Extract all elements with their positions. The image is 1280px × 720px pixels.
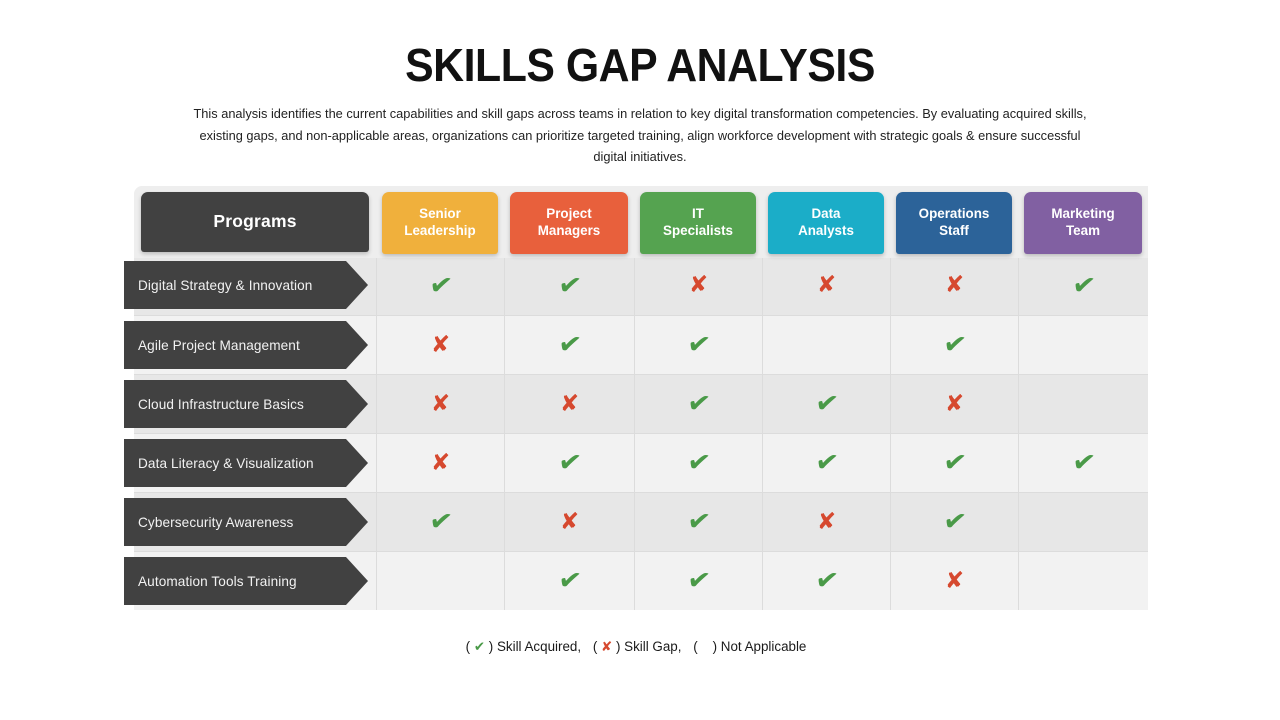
check-icon: ✔ xyxy=(1070,270,1097,301)
row-header-cell: Automation Tools Training xyxy=(134,551,376,610)
matrix-cell[interactable]: ✔ xyxy=(504,551,634,610)
column-header-label: ProjectManagers xyxy=(538,206,601,240)
check-icon: ✔ xyxy=(556,330,583,361)
row-label-text: Agile Project Management xyxy=(138,338,300,353)
legend-label-acquired: ) Skill Acquired, xyxy=(489,639,581,654)
legend-item-not-applicable: ( ) Not Applicable xyxy=(693,639,806,654)
legend-open-paren-acquired: ( xyxy=(466,639,470,654)
column-header-programs[interactable]: Programs xyxy=(141,192,369,252)
table-row: Digital Strategy & Innovation✔✔✘✘✘✔ xyxy=(134,256,1148,315)
column-header-label: ITSpecialists xyxy=(663,206,733,240)
check-icon: ✔ xyxy=(813,389,840,420)
row-header-cell: Digital Strategy & Innovation xyxy=(134,256,376,315)
table-row: Cybersecurity Awareness✔✘✔✘✔ xyxy=(134,492,1148,551)
matrix-cell[interactable]: ✔ xyxy=(762,374,890,433)
cross-icon: ✘ xyxy=(431,334,450,357)
matrix-column-header-slot: OperationsStaff xyxy=(890,186,1018,258)
matrix-cell[interactable] xyxy=(1018,315,1148,374)
row-label-agile-project-management[interactable]: Agile Project Management xyxy=(124,321,368,369)
matrix-column-header-slot: ITSpecialists xyxy=(634,186,762,258)
matrix-column-header-slot: SeniorLeadership xyxy=(376,186,504,258)
matrix-cell[interactable]: ✔ xyxy=(634,551,762,610)
column-header-it-specialists[interactable]: ITSpecialists xyxy=(640,192,756,254)
matrix-column-header-slot: DataAnalysts xyxy=(762,186,890,258)
matrix-cell[interactable] xyxy=(1018,551,1148,610)
cross-icon: ✘ xyxy=(560,393,579,416)
column-header-data-analysts[interactable]: DataAnalysts xyxy=(768,192,884,254)
table-row: Data Literacy & Visualization✘✔✔✔✔✔ xyxy=(134,433,1148,492)
matrix-cell[interactable]: ✔ xyxy=(890,492,1018,551)
legend-item-skill-acquired: ( ✔ ) Skill Acquired, xyxy=(466,639,585,654)
matrix-cell[interactable]: ✔ xyxy=(634,433,762,492)
row-label-text: Automation Tools Training xyxy=(138,574,297,589)
matrix-cell[interactable]: ✔ xyxy=(762,551,890,610)
matrix-cell[interactable] xyxy=(1018,492,1148,551)
matrix-cell[interactable]: ✔ xyxy=(634,315,762,374)
column-header-project-managers[interactable]: ProjectManagers xyxy=(510,192,628,254)
check-icon: ✔ xyxy=(556,448,583,479)
cross-icon: ✘ xyxy=(945,393,964,416)
cross-icon: ✘ xyxy=(945,570,964,593)
matrix-cell[interactable]: ✘ xyxy=(634,256,762,315)
check-icon: ✔ xyxy=(427,270,454,301)
row-label-digital-strategy-innovation[interactable]: Digital Strategy & Innovation xyxy=(124,261,368,309)
matrix-cell[interactable]: ✔ xyxy=(1018,433,1148,492)
cross-icon: ✘ xyxy=(817,274,836,297)
check-icon: ✔ xyxy=(685,566,712,597)
matrix-header-row: ProgramsSeniorLeadershipProjectManagersI… xyxy=(134,186,1148,258)
row-label-data-literacy-visualization[interactable]: Data Literacy & Visualization xyxy=(124,439,368,487)
check-icon: ✔ xyxy=(685,330,712,361)
matrix-cell[interactable]: ✔ xyxy=(890,315,1018,374)
column-header-label: Programs xyxy=(213,211,296,233)
cross-icon: ✘ xyxy=(817,511,836,534)
page-subtitle: This analysis identifies the current cap… xyxy=(184,103,1096,167)
matrix-cell[interactable] xyxy=(376,551,504,610)
column-header-label: MarketingTeam xyxy=(1051,206,1114,240)
column-header-label: OperationsStaff xyxy=(919,206,990,240)
matrix-cell[interactable]: ✘ xyxy=(890,551,1018,610)
check-icon: ✔ xyxy=(813,566,840,597)
row-label-text: Data Literacy & Visualization xyxy=(138,456,314,471)
matrix-cell[interactable] xyxy=(762,315,890,374)
column-header-marketing-team[interactable]: MarketingTeam xyxy=(1024,192,1142,254)
row-header-cell: Agile Project Management xyxy=(134,315,376,374)
matrix-cell[interactable]: ✔ xyxy=(376,492,504,551)
matrix-cell[interactable]: ✘ xyxy=(504,374,634,433)
check-icon: ✔ xyxy=(685,389,712,420)
matrix-cell[interactable]: ✘ xyxy=(762,492,890,551)
matrix-cell[interactable]: ✘ xyxy=(376,374,504,433)
matrix-cell[interactable] xyxy=(1018,374,1148,433)
row-header-cell: Cloud Infrastructure Basics xyxy=(134,374,376,433)
check-icon: ✔ xyxy=(685,448,712,479)
legend-open-paren-gap: ( xyxy=(593,639,597,654)
table-row: Cloud Infrastructure Basics✘✘✔✔✘ xyxy=(134,374,1148,433)
column-header-label: DataAnalysts xyxy=(798,206,854,240)
check-icon: ✔ xyxy=(941,448,968,479)
cross-icon: ✘ xyxy=(560,511,579,534)
legend-label-gap: ) Skill Gap, xyxy=(616,639,681,654)
cross-icon: ✘ xyxy=(431,393,450,416)
check-icon: ✔ xyxy=(1070,448,1097,479)
legend-open-paren-na: ( xyxy=(693,639,697,654)
table-row: Agile Project Management✘✔✔✔ xyxy=(134,315,1148,374)
matrix-cell[interactable]: ✔ xyxy=(376,256,504,315)
matrix-cell[interactable]: ✘ xyxy=(890,374,1018,433)
matrix-corner-header: Programs xyxy=(134,186,376,258)
matrix-cell[interactable]: ✘ xyxy=(376,433,504,492)
check-icon: ✔ xyxy=(941,507,968,538)
legend: ( ✔ ) Skill Acquired, ( ✘ ) Skill Gap, (… xyxy=(0,639,1280,655)
matrix-cell[interactable]: ✔ xyxy=(762,433,890,492)
skills-gap-matrix: ProgramsSeniorLeadershipProjectManagersI… xyxy=(134,186,1148,610)
row-label-text: Cloud Infrastructure Basics xyxy=(138,397,304,412)
row-label-text: Digital Strategy & Innovation xyxy=(138,278,312,293)
table-row: Automation Tools Training✔✔✔✘ xyxy=(134,551,1148,610)
matrix-column-header-slot: MarketingTeam xyxy=(1018,186,1148,258)
matrix-body: Digital Strategy & Innovation✔✔✘✘✘✔Agile… xyxy=(134,256,1148,610)
row-label-cybersecurity-awareness[interactable]: Cybersecurity Awareness xyxy=(124,498,368,546)
row-header-cell: Cybersecurity Awareness xyxy=(134,492,376,551)
column-header-operations-staff[interactable]: OperationsStaff xyxy=(896,192,1012,254)
check-icon: ✔ xyxy=(941,330,968,361)
legend-blank-icon xyxy=(701,639,708,654)
legend-item-skill-gap: ( ✘ ) Skill Gap, xyxy=(593,639,685,654)
check-icon: ✔ xyxy=(556,270,583,301)
check-icon: ✔ xyxy=(474,640,485,655)
matrix-cell[interactable]: ✘ xyxy=(762,256,890,315)
matrix-cell[interactable]: ✔ xyxy=(504,315,634,374)
column-header-senior-leadership[interactable]: SeniorLeadership xyxy=(382,192,498,254)
cross-icon: ✘ xyxy=(601,640,612,655)
check-icon: ✔ xyxy=(556,566,583,597)
matrix-cell[interactable]: ✔ xyxy=(504,433,634,492)
row-label-automation-tools-training[interactable]: Automation Tools Training xyxy=(124,557,368,605)
matrix-cell[interactable]: ✔ xyxy=(634,374,762,433)
matrix-cell[interactable]: ✔ xyxy=(504,256,634,315)
check-icon: ✔ xyxy=(685,507,712,538)
cross-icon: ✘ xyxy=(431,452,450,475)
matrix-cell[interactable]: ✘ xyxy=(890,256,1018,315)
row-label-cloud-infrastructure-basics[interactable]: Cloud Infrastructure Basics xyxy=(124,380,368,428)
row-label-text: Cybersecurity Awareness xyxy=(138,515,293,530)
matrix-cell[interactable]: ✔ xyxy=(634,492,762,551)
cross-icon: ✘ xyxy=(689,274,708,297)
row-header-cell: Data Literacy & Visualization xyxy=(134,433,376,492)
matrix-cell[interactable]: ✔ xyxy=(1018,256,1148,315)
matrix-column-header-slot: ProjectManagers xyxy=(504,186,634,258)
cross-icon: ✘ xyxy=(945,274,964,297)
legend-label-na: ) Not Applicable xyxy=(713,639,807,654)
matrix-cell[interactable]: ✘ xyxy=(376,315,504,374)
page-title: SKILLS GAP ANALYSIS xyxy=(45,0,1235,89)
check-icon: ✔ xyxy=(427,507,454,538)
check-icon: ✔ xyxy=(813,448,840,479)
matrix-cell[interactable]: ✔ xyxy=(890,433,1018,492)
column-header-label: SeniorLeadership xyxy=(404,206,475,240)
matrix-cell[interactable]: ✘ xyxy=(504,492,634,551)
